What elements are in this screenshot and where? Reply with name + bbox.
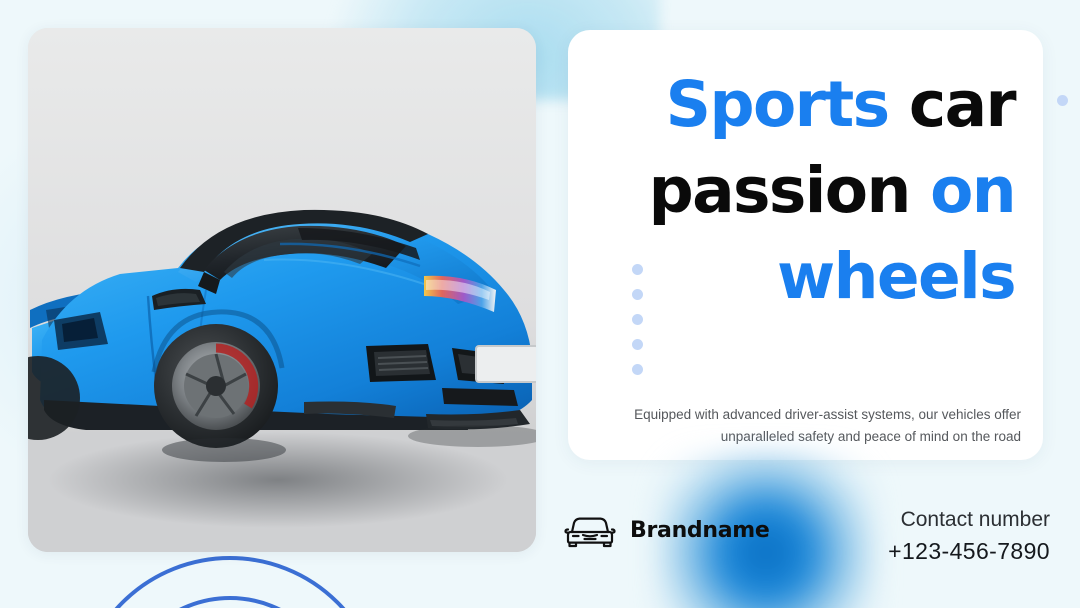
body-copy: Equipped with advanced driver-assist sys… (628, 404, 1021, 448)
headline-word-sports: Sports (666, 68, 889, 141)
dot-column-decoration (632, 264, 643, 375)
banner-canvas: Sports car passion on wheels Equipped wi… (0, 0, 1080, 608)
decor-dot (632, 364, 643, 375)
brand-logo[interactable]: Brandname (562, 510, 770, 550)
car-photo-card (28, 28, 536, 552)
contact-block: Contact number +123-456-7890 (888, 505, 1050, 567)
page-title: Sports car passion on wheels (594, 62, 1015, 320)
brand-name-label: Brandname (630, 518, 770, 543)
decor-dot (632, 289, 643, 300)
contact-label: Contact number (888, 505, 1050, 535)
decor-dot (632, 314, 643, 325)
headline-word-passion: passion (649, 154, 910, 227)
headline-word-car: car (909, 68, 1015, 141)
headline-word-wheels: wheels (777, 240, 1015, 313)
decor-dot (632, 339, 643, 350)
decor-dot (632, 264, 643, 275)
decor-dot-edge (1057, 95, 1068, 106)
car-front-icon (562, 510, 618, 550)
car-photo-image (28, 28, 536, 552)
headline-card: Sports car passion on wheels Equipped wi… (568, 30, 1043, 460)
headline-word-on: on (930, 154, 1015, 227)
contact-number[interactable]: +123-456-7890 (888, 535, 1050, 567)
